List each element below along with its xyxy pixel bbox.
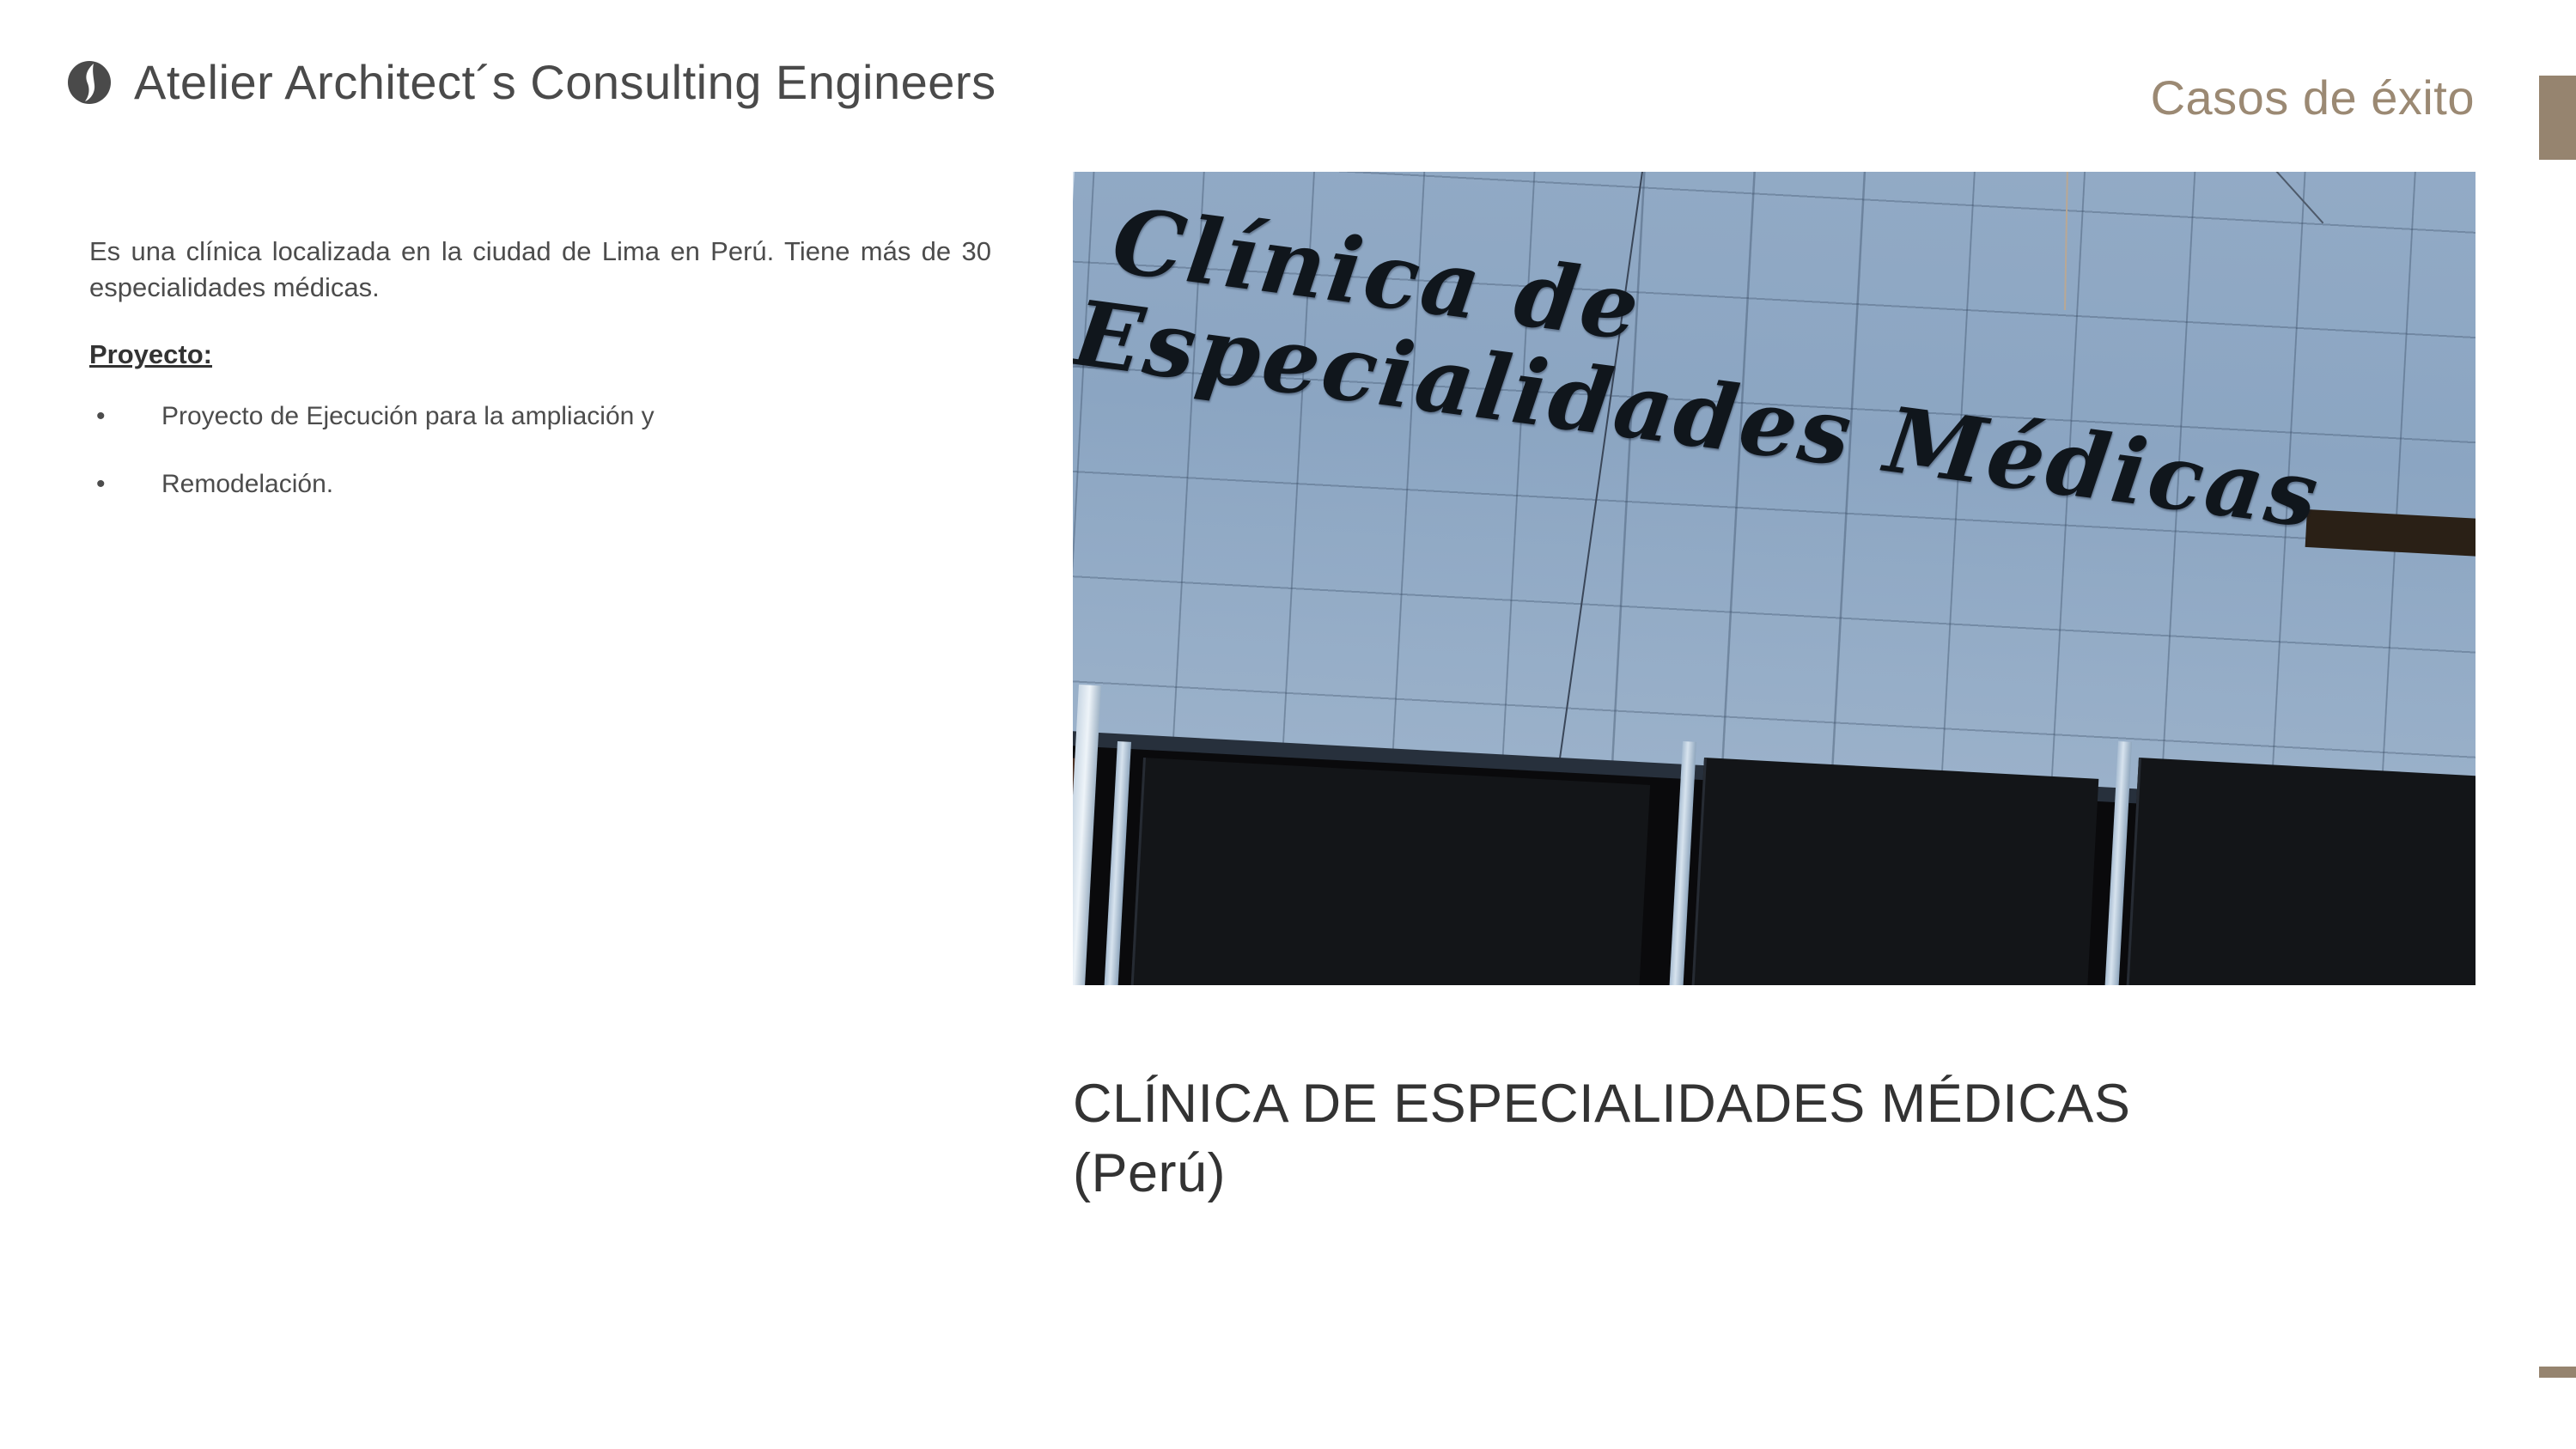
project-photo: Clínica de Especialidades Médicas [1073, 172, 2476, 985]
intro-paragraph: Es una clínica localizada en la ciudad d… [89, 234, 991, 305]
list-item: • Remodelación. [89, 467, 991, 501]
footer-accent-bar [2539, 1367, 2576, 1378]
list-item: • Proyecto de Ejecución para la ampliaci… [89, 399, 991, 433]
slide-header: Atelier Architect´s Consulting Engineers… [0, 0, 2576, 163]
project-bullet-list: • Proyecto de Ejecución para la ampliaci… [89, 399, 991, 501]
caption-line-2: (Perú) [1073, 1139, 2550, 1209]
content-column: Es una clínica localizada en la ciudad d… [89, 234, 991, 535]
circle-slash-logo-icon [67, 60, 112, 105]
list-item-label: Proyecto de Ejecución para la ampliación… [161, 402, 655, 430]
caption-line-1: CLÍNICA DE ESPECIALIDADES MÉDICAS [1073, 1069, 2550, 1139]
bullet-icon: • [96, 399, 106, 433]
bullet-icon: • [96, 467, 106, 501]
photo-window-pane [1129, 758, 1649, 985]
brand-lockup: Atelier Architect´s Consulting Engineers [67, 58, 996, 107]
photo-window-pane [1690, 758, 2098, 985]
header-accent-block [2539, 76, 2576, 160]
project-heading: Proyecto: [89, 339, 212, 370]
brand-title: Atelier Architect´s Consulting Engineers [134, 58, 996, 107]
photo-caption: CLÍNICA DE ESPECIALIDADES MÉDICAS (Perú) [1073, 1069, 2550, 1208]
photo-window-pane [2125, 758, 2476, 985]
project-heading-wrap: Proyecto: [89, 339, 991, 399]
section-label: Casos de éxito [2151, 74, 2475, 122]
list-item-label: Remodelación. [161, 470, 333, 498]
